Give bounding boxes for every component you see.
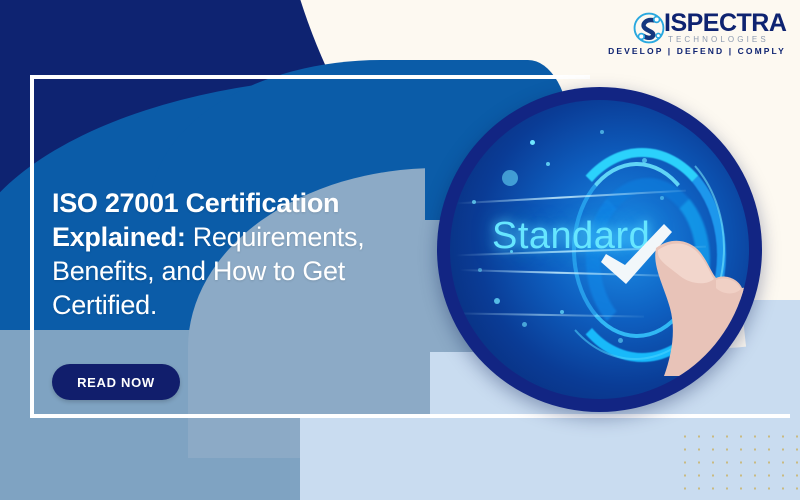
circuit-spark	[660, 196, 664, 200]
frame-left-border	[30, 75, 34, 418]
logo-tagline: DEVELOP | DEFEND | COMPLY	[604, 46, 790, 56]
circuit-spark	[502, 170, 518, 186]
frame-top-border	[30, 75, 590, 79]
logo-wordmark: ISPECTRA	[664, 11, 786, 36]
circuit-spark	[560, 310, 564, 314]
circuit-spark	[546, 162, 550, 166]
frame-bottom-border	[30, 414, 790, 418]
circuit-spark	[480, 145, 487, 152]
dot-grid-decoration	[678, 430, 800, 500]
hero-circle-image: Standard	[437, 87, 762, 412]
read-now-button[interactable]: READ NOW	[52, 364, 180, 400]
pointing-hand-icon	[646, 226, 749, 376]
hero-circle-inner: Standard	[450, 100, 749, 399]
circuit-spark	[618, 338, 623, 343]
circuit-spark	[494, 298, 500, 304]
circuit-spark	[642, 158, 647, 163]
logo-sub-wordmark: TECHNOLOGIES	[668, 35, 769, 44]
circuit-spark	[522, 322, 527, 327]
ispectra-logo[interactable]: ISPECTRA TECHNOLOGIES DEVELOP | DEFEND |…	[600, 8, 790, 60]
circuit-spark	[478, 268, 482, 272]
circuit-spark	[600, 130, 604, 134]
iso-27001-promo-banner: Standard ISO 27001 Certification Explain…	[0, 0, 800, 500]
page-title: ISO 27001 Certification Explained: Requi…	[52, 186, 452, 322]
circuit-spark	[530, 140, 535, 145]
ispectra-swirl-icon	[632, 11, 666, 45]
circuit-spark	[472, 200, 476, 204]
